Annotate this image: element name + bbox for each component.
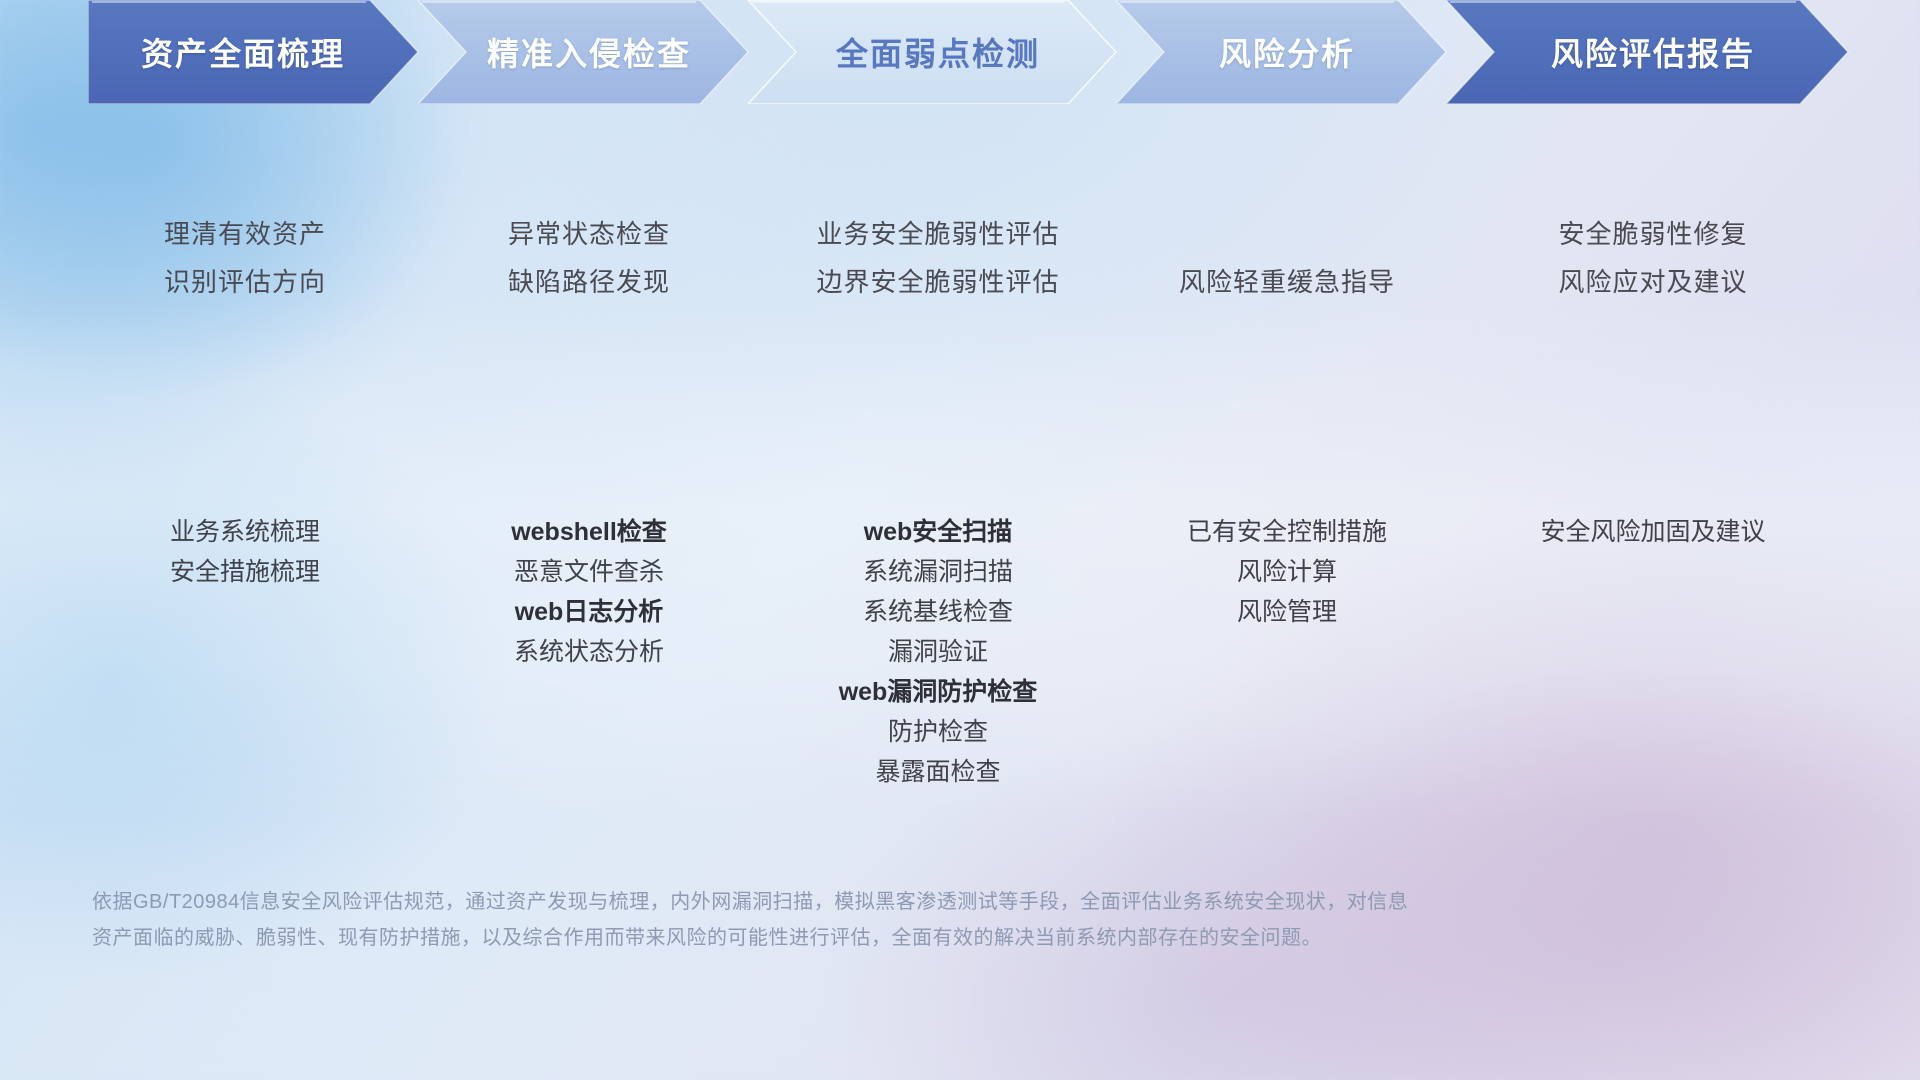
stage-output-item: web漏洞防护检查: [728, 672, 1148, 712]
stage-title-intrusion-check: 精准入侵检查: [487, 29, 691, 75]
stage-title-risk-analysis: 风险分析: [1219, 29, 1355, 75]
stage-outputs-risk-report: 安全风险加固及建议: [1443, 512, 1863, 552]
stage-inputs-risk-report: 安全脆弱性修复风险应对及建议: [1443, 210, 1863, 306]
process-stage-intrusion-check[interactable]: 精准入侵检查: [418, 0, 748, 104]
process-stage-weakness-detection[interactable]: 全面弱点检测: [748, 0, 1116, 104]
stage-output-item: 风险管理: [1077, 592, 1497, 632]
stage-title-asset-inventory: 资产全面梳理: [141, 29, 345, 75]
stage-title-weakness-detection: 全面弱点检测: [836, 29, 1040, 75]
process-stage-asset-inventory[interactable]: 资产全面梳理: [88, 0, 418, 104]
stage-inputs-risk-analysis: 风险轻重缓急指导: [1077, 258, 1497, 306]
stage-title-risk-report: 风险评估报告: [1551, 29, 1755, 75]
stage-output-item: 防护检查: [728, 712, 1148, 752]
stage-output-item: 漏洞验证: [728, 632, 1148, 672]
stage-outputs-risk-analysis: 已有安全控制措施风险计算风险管理: [1077, 512, 1497, 632]
footer-line-2: 资产面临的威胁、脆弱性、现有防护措施，以及综合作用而带来风险的可能性进行评估，全…: [92, 920, 1792, 956]
stage-output-item: 风险计算: [1077, 552, 1497, 592]
stage-input-item: 业务安全脆弱性评估: [728, 210, 1148, 258]
stage-input-item: 安全脆弱性修复: [1443, 210, 1863, 258]
stage-input-item: 风险应对及建议: [1443, 258, 1863, 306]
footer-line-1: 依据GB/T20984信息安全风险评估规范，通过资产发现与梳理，内外网漏洞扫描，…: [92, 884, 1792, 920]
process-stage-risk-report[interactable]: 风险评估报告: [1446, 0, 1848, 104]
footer-description: 依据GB/T20984信息安全风险评估规范，通过资产发现与梳理，内外网漏洞扫描，…: [92, 884, 1792, 956]
stage-output-item: 已有安全控制措施: [1077, 512, 1497, 552]
stage-output-item: 安全风险加固及建议: [1443, 512, 1863, 552]
stage-input-item: 风险轻重缓急指导: [1077, 258, 1497, 306]
stage-output-item: 暴露面检查: [728, 752, 1148, 792]
process-stage-risk-analysis[interactable]: 风险分析: [1116, 0, 1446, 104]
